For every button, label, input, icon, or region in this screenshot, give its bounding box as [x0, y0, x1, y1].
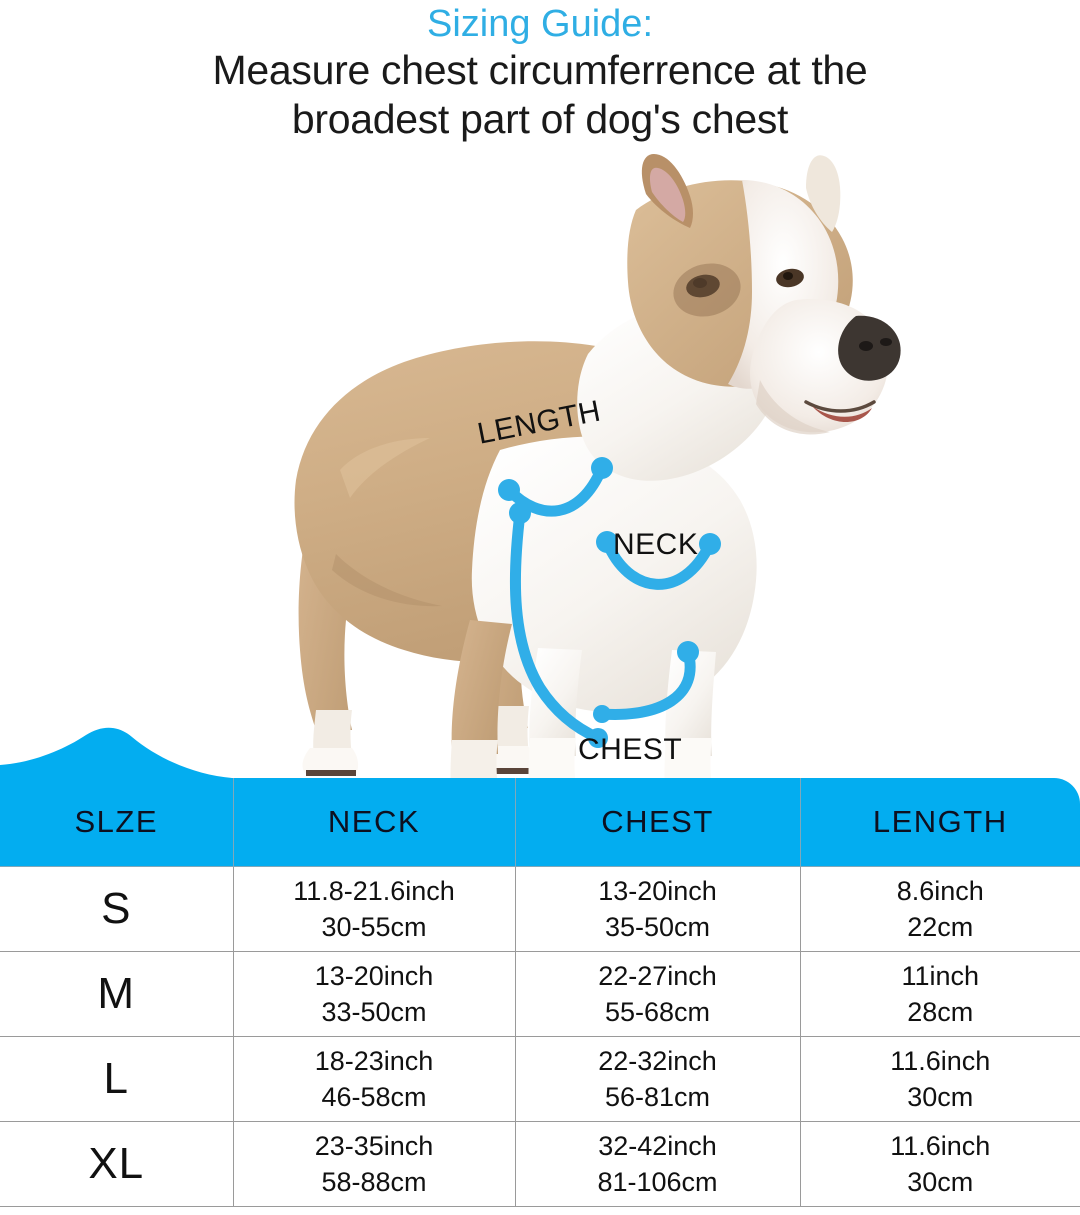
table-row: M 13-20inch 33-50cm 22-27inch 55-68cm 11… — [0, 951, 1080, 1036]
length-spine-dot — [509, 502, 531, 524]
chest-inches: 22-27inch — [516, 958, 800, 994]
neck-dot-right — [699, 533, 721, 555]
neck-inches: 23-35inch — [234, 1128, 515, 1164]
length-cell: 11.6inch 30cm — [800, 1121, 1080, 1206]
length-dot-left — [498, 479, 520, 501]
header-block: Sizing Guide: Measure chest circumferren… — [0, 0, 1080, 144]
neck-inches: 13-20inch — [234, 958, 515, 994]
size-table: SLZE NECK CHEST LENGTH S 11.8-21.6inch 3… — [0, 778, 1080, 1207]
page-title: Sizing Guide: — [0, 0, 1080, 46]
chest-dot-bottom — [593, 705, 611, 723]
chest-cm: 55-68cm — [516, 994, 800, 1030]
chest-cm: 35-50cm — [516, 909, 800, 945]
chest-cell: 22-32inch 56-81cm — [515, 1036, 800, 1121]
neck-cm: 30-55cm — [234, 909, 515, 945]
chest-inches: 22-32inch — [516, 1043, 800, 1079]
dog-measurement-diagram: LENGTH NECK CHEST — [0, 150, 1080, 790]
chest-cell: 32-42inch 81-106cm — [515, 1121, 800, 1206]
chest-cm: 81-106cm — [516, 1164, 800, 1200]
length-cm: 30cm — [801, 1079, 1080, 1115]
size-cell: L — [0, 1036, 233, 1121]
length-cell: 8.6inch 22cm — [800, 866, 1080, 951]
chest-inches: 13-20inch — [516, 873, 800, 909]
chest-dot-top — [677, 641, 699, 663]
header-hill-decoration — [0, 725, 240, 785]
sizing-guide-page: Sizing Guide: Measure chest circumferren… — [0, 0, 1080, 1215]
length-cm: 22cm — [801, 909, 1080, 945]
neck-cm: 58-88cm — [234, 1164, 515, 1200]
column-header-size: SLZE — [0, 778, 233, 866]
length-inches: 8.6inch — [801, 873, 1080, 909]
table-row: S 11.8-21.6inch 30-55cm 13-20inch 35-50c… — [0, 866, 1080, 951]
table-row: L 18-23inch 46-58cm 22-32inch 56-81cm 11… — [0, 1036, 1080, 1121]
size-table-body: S 11.8-21.6inch 30-55cm 13-20inch 35-50c… — [0, 866, 1080, 1206]
length-inches: 11.6inch — [801, 1128, 1080, 1164]
length-cell: 11inch 28cm — [800, 951, 1080, 1036]
length-cm: 28cm — [801, 994, 1080, 1030]
neck-cell: 18-23inch 46-58cm — [233, 1036, 515, 1121]
length-inches: 11.6inch — [801, 1043, 1080, 1079]
chest-inches: 32-42inch — [516, 1128, 800, 1164]
dog-head — [577, 154, 900, 481]
neck-cell: 13-20inch 33-50cm — [233, 951, 515, 1036]
length-inches: 11inch — [801, 958, 1080, 994]
table-header-row: SLZE NECK CHEST LENGTH — [0, 778, 1080, 866]
table-row: XL 23-35inch 58-88cm 32-42inch 81-106cm … — [0, 1121, 1080, 1206]
subtitle-line-2: broadest part of dog's chest — [0, 95, 1080, 144]
diagram-label-neck: NECK — [613, 528, 698, 562]
size-table-section: SLZE NECK CHEST LENGTH S 11.8-21.6inch 3… — [0, 725, 1080, 1215]
chest-cell: 13-20inch 35-50cm — [515, 866, 800, 951]
chest-cell: 22-27inch 55-68cm — [515, 951, 800, 1036]
size-cell: M — [0, 951, 233, 1036]
column-header-length: LENGTH — [800, 778, 1080, 866]
size-cell: S — [0, 866, 233, 951]
chest-cm: 56-81cm — [516, 1079, 800, 1115]
size-cell: XL — [0, 1121, 233, 1206]
length-cm: 30cm — [801, 1164, 1080, 1200]
neck-inches: 18-23inch — [234, 1043, 515, 1079]
neck-cell: 23-35inch 58-88cm — [233, 1121, 515, 1206]
neck-inches: 11.8-21.6inch — [234, 873, 515, 909]
length-dot-right — [591, 457, 613, 479]
subtitle-line-1: Measure chest circumferrence at the — [0, 46, 1080, 95]
length-cell: 11.6inch 30cm — [800, 1036, 1080, 1121]
column-header-chest: CHEST — [515, 778, 800, 866]
dog-illustration — [0, 150, 1080, 790]
neck-cell: 11.8-21.6inch 30-55cm — [233, 866, 515, 951]
neck-cm: 33-50cm — [234, 994, 515, 1030]
size-table-head: SLZE NECK CHEST LENGTH — [0, 778, 1080, 866]
column-header-neck: NECK — [233, 778, 515, 866]
neck-cm: 46-58cm — [234, 1079, 515, 1115]
